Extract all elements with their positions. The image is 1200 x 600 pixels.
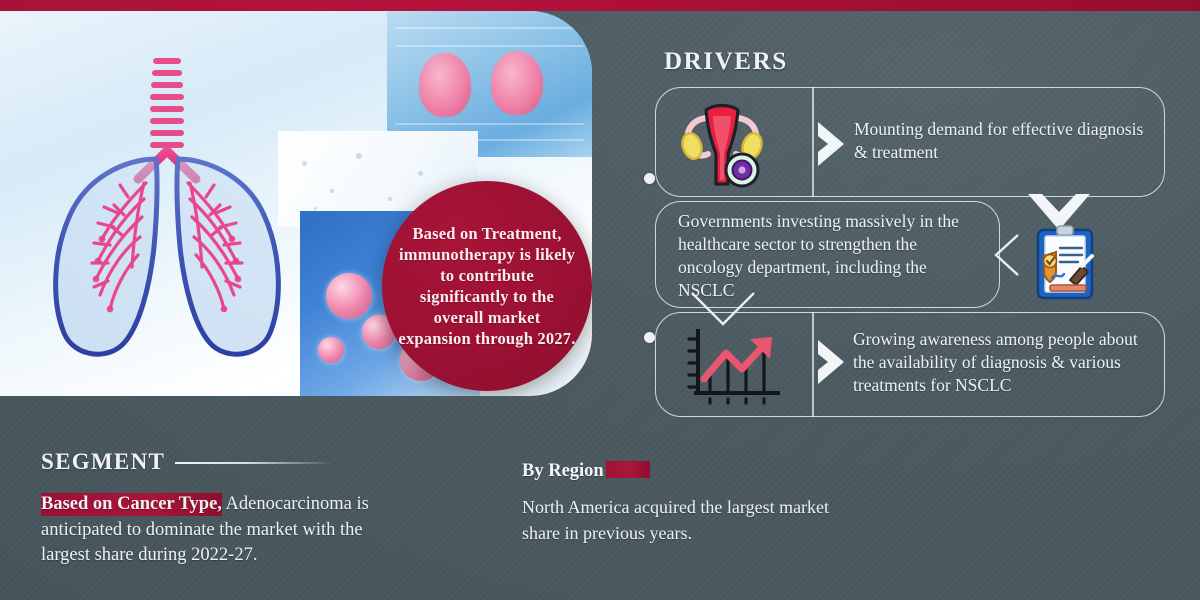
- segment-lead: Based on Cancer Type,: [41, 493, 222, 516]
- uterus-icon: [668, 98, 776, 190]
- driver-text-1: Mounting demand for effective diagnosis …: [854, 118, 1154, 164]
- infographic-page: Based on Treatment, immunotherapy is lik…: [0, 0, 1200, 600]
- chevron-right-icon-2: [812, 336, 852, 388]
- segment-rule: [175, 462, 333, 464]
- region-heading-swatch: [606, 461, 650, 478]
- region-heading: By Region: [522, 461, 650, 482]
- driver-bullet-dot-3: [644, 332, 655, 343]
- chevron-left-icon: [988, 232, 1022, 278]
- chevron-down-icon-2: [686, 290, 760, 330]
- lungs-illustration: [18, 47, 318, 367]
- hero-image-collage: Based on Treatment, immunotherapy is lik…: [0, 11, 592, 396]
- crimson-accent-bar: [0, 0, 1200, 11]
- treatment-callout-circle: Based on Treatment, immunotherapy is lik…: [382, 181, 592, 391]
- driver-text-3: Growing awareness among people about the…: [853, 328, 1158, 397]
- segment-body: Based on Cancer Type, Adenocarcinoma is …: [41, 492, 381, 569]
- treatment-callout-text: Based on Treatment, immunotherapy is lik…: [382, 223, 592, 350]
- segment-heading: SEGMENT: [41, 449, 165, 475]
- driver-text-2: Governments investing massively in the h…: [678, 210, 978, 302]
- clipboard-report-icon: [1030, 222, 1102, 304]
- region-heading-label: By Region: [522, 461, 604, 481]
- growth-chart-icon: [680, 325, 788, 407]
- drivers-heading: DRIVERS: [664, 48, 788, 76]
- driver-bullet-dot-1: [644, 173, 655, 184]
- chevron-right-icon: [812, 118, 852, 170]
- region-body: North America acquired the largest marke…: [522, 495, 852, 546]
